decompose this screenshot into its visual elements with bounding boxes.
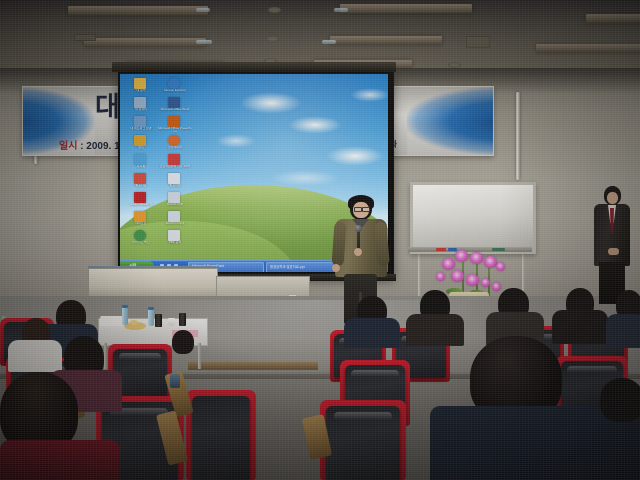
- hancom-hangul-icon: [168, 154, 180, 165]
- staff-member: [592, 186, 632, 304]
- desktop-icon-label: Microsoft Office Word: [158, 108, 192, 114]
- audience-body: [406, 314, 464, 346]
- adobe-reader-icon: [134, 192, 146, 203]
- water-bottle-cap-2: [148, 307, 154, 310]
- desktop-icon-label: DAUM DVD: [158, 203, 192, 209]
- ms-word-icon: [168, 97, 180, 108]
- my-documents-icon: [134, 78, 146, 89]
- orchid-bloom: [470, 252, 483, 264]
- orchid-bloom: [436, 272, 445, 281]
- presenter-glasses-left: [354, 207, 362, 212]
- desktop-icon-label: Adobe Reader 9: [124, 203, 158, 209]
- desktop-icon-label: PDF 문서: [158, 241, 192, 247]
- desktop-icon-label: 내 네트워크 환경: [124, 127, 158, 133]
- water-bottle[interactable]: [122, 307, 128, 325]
- desktop-icon[interactable]: 내 문서: [124, 77, 158, 96]
- desktop-icon[interactable]: 알집: [124, 134, 158, 153]
- taskbar-button-label: 환경공학과 발표자료.ppt: [270, 264, 305, 269]
- snack-piece: [130, 320, 138, 325]
- orchid-bloom: [466, 274, 479, 286]
- auditorium-scene: 대구대학교 학술발표회 대구대학교 학술발표회 일시 : 2009. 11. 2…: [0, 0, 640, 480]
- coffee-can-2[interactable]: [179, 313, 186, 326]
- water-bottle-2[interactable]: [148, 309, 154, 326]
- orchid-bloom: [455, 250, 468, 262]
- desktop-icon-label: 발표자료: [124, 184, 158, 190]
- gom-player-icon: [168, 135, 180, 146]
- stage-step-edge: [188, 362, 318, 370]
- ms-powerpoint-icon: [168, 116, 180, 127]
- audience-head: [172, 330, 194, 354]
- presenter-hand: [354, 248, 362, 256]
- table-leg-left: [104, 343, 107, 369]
- desktop-icon[interactable]: Internet Explorer: [158, 77, 192, 96]
- desktop-icon-label: Internet Explorer: [158, 89, 192, 95]
- paper-cup[interactable]: [168, 318, 175, 326]
- desktop-icon[interactable]: Microsoft Office PowerPoint: [158, 115, 192, 134]
- projection-screen-roller: [112, 62, 396, 72]
- alzip-icon: [134, 135, 146, 146]
- desktop-icon[interactable]: 네이트온: [124, 210, 158, 229]
- desktop-icon-grid: 내 문서 Internet Explorer 내 컴퓨터 Microsoft O…: [124, 77, 198, 248]
- desktop-icon[interactable]: Adobe Reader 9: [124, 191, 158, 210]
- desktop-icon-label: Microsoft Office PowerPoint: [158, 127, 192, 133]
- orchid-bloom: [451, 270, 464, 282]
- dvd-shortcut-icon: [168, 192, 180, 203]
- audience-body: [552, 310, 608, 344]
- banner-rod-right: [516, 92, 520, 180]
- desktop-icon-label: 알집: [124, 146, 158, 152]
- whiteboard-marker-tray: [408, 247, 532, 252]
- desktop-icon[interactable]: 내 컴퓨터: [124, 96, 158, 115]
- presenter-glasses-right: [362, 207, 370, 212]
- desktop-icon[interactable]: 한글과컴퓨터 한글 2007: [158, 153, 192, 172]
- marker-red[interactable]: [436, 248, 446, 251]
- staff-face: [607, 192, 618, 204]
- eraser[interactable]: [492, 248, 505, 251]
- presenter-hand-left: [332, 264, 340, 272]
- dvd-shortcut-2-icon: [168, 211, 180, 222]
- desktop-icon-label: 내 문서: [124, 89, 158, 95]
- table-leg-right: [198, 343, 201, 369]
- my-computer-icon: [134, 97, 146, 108]
- orchid-bloom: [496, 262, 505, 271]
- desktop-icon[interactable]: 휴지통: [124, 153, 158, 172]
- desktop-icon-label: 휴지통: [124, 165, 158, 171]
- presentation-file-icon: [134, 173, 146, 184]
- network-places-icon: [134, 116, 146, 127]
- audience-body-foreground: [0, 440, 120, 480]
- recycle-bin-icon: [134, 154, 146, 165]
- desktop-icon[interactable]: 내 네트워크 환경: [124, 115, 158, 134]
- audience-body: [344, 318, 400, 348]
- microphone-head: [355, 225, 362, 232]
- desktop-icon[interactable]: DAUM DVD: [158, 191, 192, 210]
- orchid-bloom: [481, 278, 490, 287]
- internet-explorer-icon: [168, 78, 180, 89]
- pdf-document-icon: [168, 230, 180, 241]
- desktop-icon[interactable]: Microsoft Office Word: [158, 96, 192, 115]
- audience-body: [8, 340, 62, 372]
- desktop-icon[interactable]: PDF 문서: [158, 229, 192, 248]
- whiteboard-sheen: [413, 185, 533, 251]
- desktop-icon-label: 바이러스 백신: [124, 241, 158, 247]
- handheld-device[interactable]: [170, 374, 180, 388]
- audience-head: [600, 378, 640, 422]
- desktop-icon-label: 발표파일: [158, 184, 192, 190]
- marker-blue[interactable]: [448, 248, 457, 251]
- desktop-icon-label: 네이트온: [124, 222, 158, 228]
- desktop-icon[interactable]: 발표파일: [158, 172, 192, 191]
- nateon-icon: [134, 211, 146, 222]
- orchid-bloom: [492, 282, 501, 291]
- desktop-icon[interactable]: 바이러스 백신: [124, 229, 158, 248]
- desktop-icon-label: 내 컴퓨터: [124, 108, 158, 114]
- presenter-arm-right: [374, 222, 390, 267]
- audience-body: [606, 314, 640, 348]
- coffee-can[interactable]: [155, 314, 162, 327]
- staff-clasped-hands: [608, 248, 619, 255]
- whiteboard: [410, 182, 536, 254]
- desktop-icon-label: DAUM DVD 2: [158, 222, 192, 228]
- desktop-icon[interactable]: 발표자료: [124, 172, 158, 191]
- antivirus-icon: [134, 230, 146, 241]
- desktop-icon[interactable]: DAUM DVD 2: [158, 210, 192, 229]
- desktop-icon[interactable]: 곰플레이어: [158, 134, 192, 153]
- desktop-icon-label: 곰플레이어: [158, 146, 192, 152]
- water-bottle-cap: [122, 305, 128, 308]
- report-file-icon: [168, 173, 180, 184]
- orchid-bloom: [442, 258, 455, 270]
- desktop-icon-label: 한글과컴퓨터 한글 2007: [158, 165, 192, 171]
